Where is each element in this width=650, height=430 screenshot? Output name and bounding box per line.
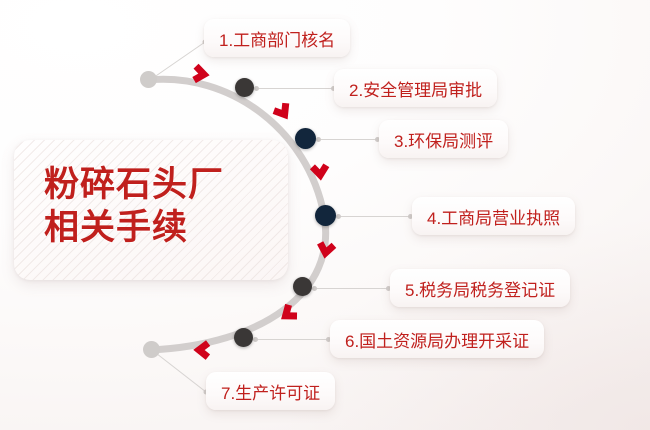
step-label-1[interactable]: 1.工商部门核名 bbox=[204, 19, 350, 57]
main-title-card: 粉碎石头厂 相关手续 bbox=[14, 140, 288, 280]
node-step-5 bbox=[293, 277, 312, 296]
step-label-4[interactable]: 4.工商局营业执照 bbox=[412, 197, 575, 235]
node-end bbox=[143, 341, 160, 358]
node-step-6 bbox=[234, 328, 253, 347]
step-label-5-text: 5.税务局税务登记证 bbox=[405, 276, 555, 301]
node-step-3 bbox=[295, 128, 316, 149]
connector-line-1 bbox=[150, 42, 205, 80]
step-label-6[interactable]: 6.国土资源局办理开采证 bbox=[330, 320, 544, 358]
step-label-3[interactable]: 3.环保局测评 bbox=[379, 120, 508, 158]
arrow-icon-3 bbox=[312, 165, 327, 175]
step-label-6-text: 6.国土资源局办理开采证 bbox=[345, 327, 529, 352]
step-label-2-text: 2.安全管理局审批 bbox=[349, 76, 482, 101]
connector-line-3 bbox=[317, 139, 379, 140]
step-label-1-text: 1.工商部门核名 bbox=[219, 26, 335, 51]
step-label-7[interactable]: 7.生产许可证 bbox=[206, 372, 335, 410]
step-label-7-text: 7.生产许可证 bbox=[221, 379, 320, 404]
connector-line-2 bbox=[255, 88, 335, 89]
arrow-icon-1 bbox=[194, 66, 205, 81]
infographic-canvas: 粉碎石头厂 相关手续 1.工商部门核名 2.安全管理局审批 3.环保局测评 4.… bbox=[0, 0, 650, 430]
step-label-3-text: 3.环保局测评 bbox=[394, 127, 493, 152]
connector-line-5 bbox=[313, 288, 390, 289]
arrow-icon-6 bbox=[199, 343, 208, 357]
connector-line-6 bbox=[254, 339, 330, 340]
node-step-4 bbox=[315, 205, 336, 226]
step-label-2[interactable]: 2.安全管理局审批 bbox=[334, 69, 497, 107]
step-label-4-text: 4.工商局营业执照 bbox=[427, 204, 560, 229]
node-step-2 bbox=[235, 78, 254, 97]
arrow-icon-2 bbox=[274, 103, 291, 118]
connector-line-7 bbox=[152, 350, 206, 392]
step-label-5[interactable]: 5.税务局税务登记证 bbox=[390, 269, 570, 307]
connector-line-4 bbox=[337, 216, 412, 217]
page-title: 粉碎石头厂 相关手续 bbox=[44, 164, 264, 249]
node-start bbox=[140, 71, 157, 88]
